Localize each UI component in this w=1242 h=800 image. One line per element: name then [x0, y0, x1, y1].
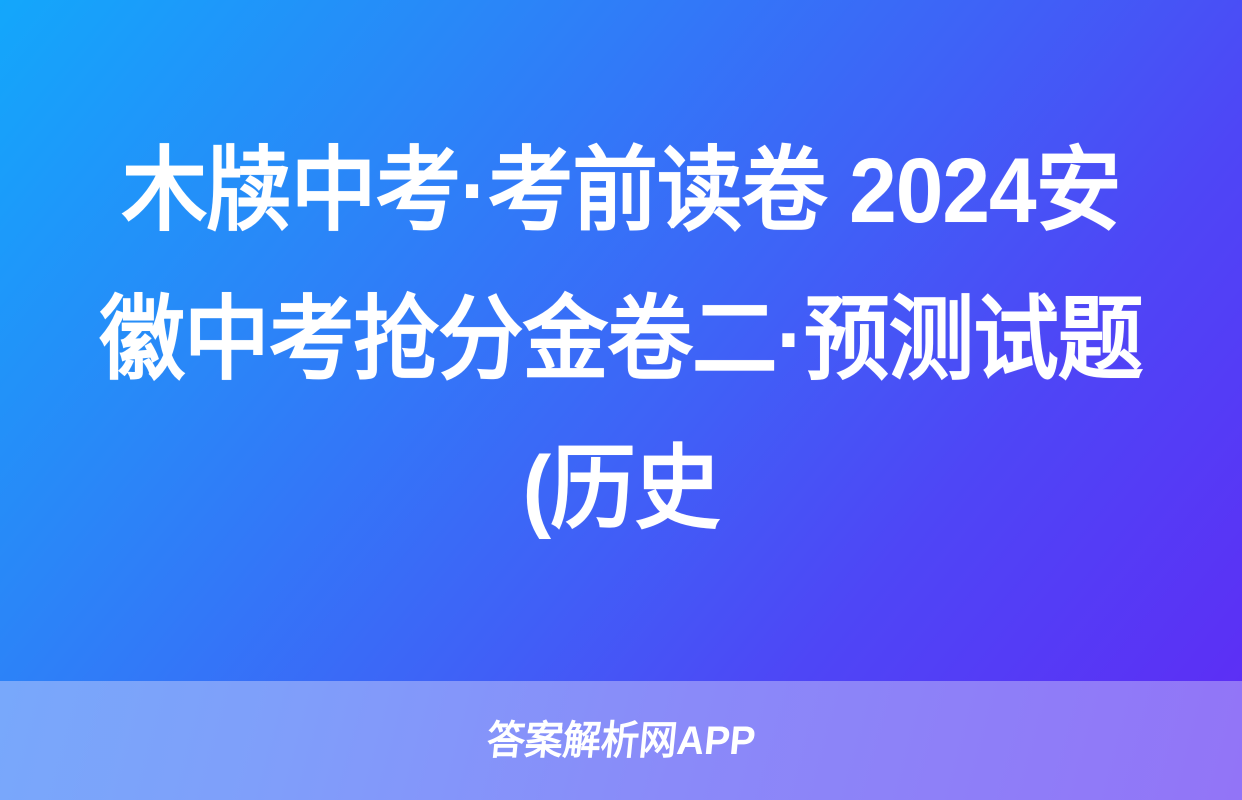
cover-title: 木牍中考·考前读卷 2024安徽中考抢分金卷二·预测试题(历史	[96, 117, 1147, 564]
watermark-band: 答案解析网APP	[0, 681, 1242, 800]
cover-hero-gradient: 木牍中考·考前读卷 2024安徽中考抢分金卷二·预测试题(历史	[0, 0, 1242, 681]
cover-title-container: 木牍中考·考前读卷 2024安徽中考抢分金卷二·预测试题(历史	[0, 0, 1242, 681]
app-watermark-label: 答案解析网APP	[485, 721, 757, 761]
book-cover: 木牍中考·考前读卷 2024安徽中考抢分金卷二·预测试题(历史 答案解析网APP	[0, 0, 1242, 800]
